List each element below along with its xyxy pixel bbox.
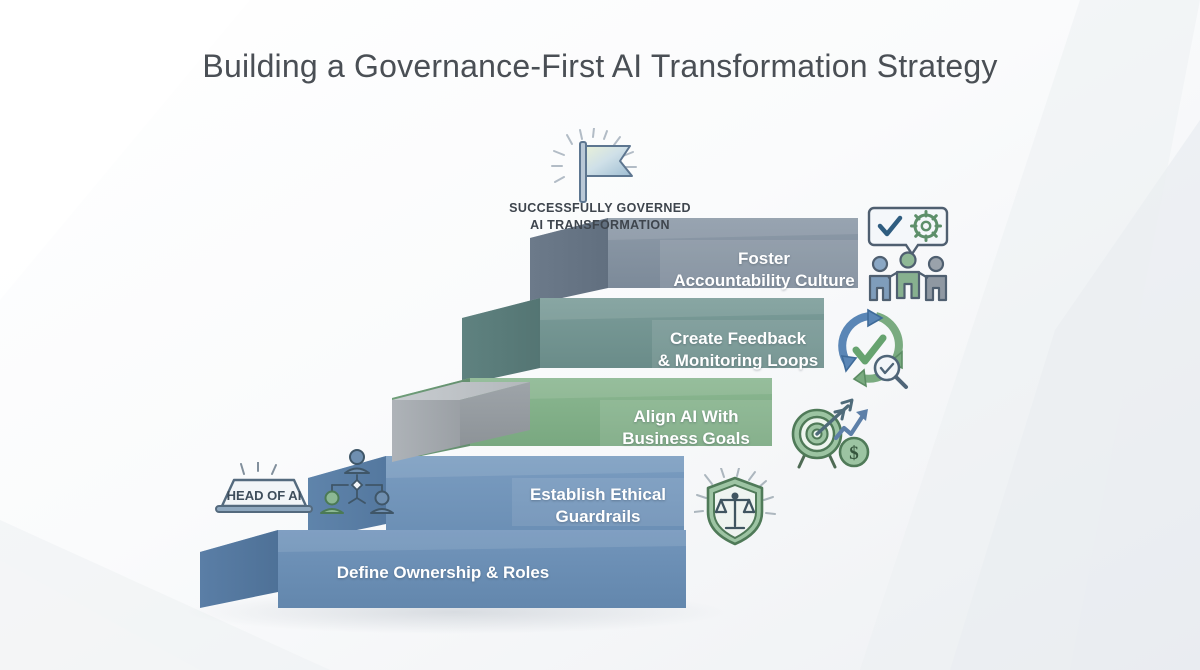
step-3-align-ai-with-business-goals[interactable] xyxy=(392,378,772,462)
org-chart-icon xyxy=(318,448,396,518)
target-growth-icon: $ xyxy=(786,394,872,474)
staircase-diagram xyxy=(0,0,1200,670)
page-title: Building a Governance-First AI Transform… xyxy=(0,48,1200,85)
summit-caption: SUCCESSFULLY GOVERNED AI TRANSFORMATION xyxy=(505,200,695,234)
shield-scales-icon xyxy=(694,468,776,552)
step-4-create-feedback-monitoring-loops[interactable] xyxy=(462,298,824,385)
nameplate-head-of-ai-icon: HEAD OF AI xyxy=(208,462,318,522)
svg-text:$: $ xyxy=(849,443,859,464)
team-alignment-icon xyxy=(862,202,954,302)
flag-icon xyxy=(548,128,654,206)
feedback-loop-icon xyxy=(832,308,914,392)
nameplate-text: HEAD OF AI xyxy=(227,488,302,503)
